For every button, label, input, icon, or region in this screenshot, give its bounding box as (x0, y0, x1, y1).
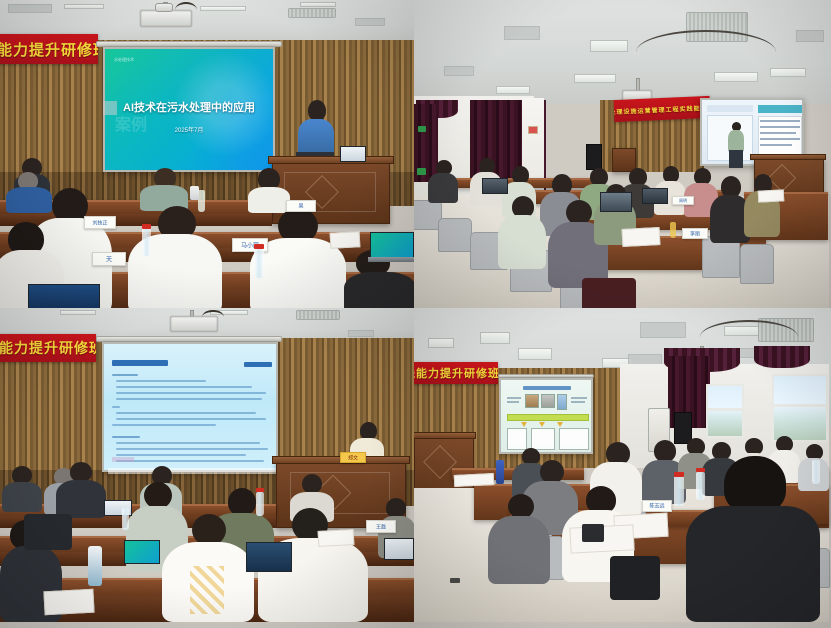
projector-cable (202, 310, 224, 324)
bottle-cap (254, 244, 264, 249)
water-bottle (254, 248, 264, 278)
attendee-body (344, 272, 414, 308)
wall-sign (528, 126, 538, 134)
slide-text-line (112, 374, 138, 376)
ceiling-light (64, 4, 104, 9)
slide-table-row (760, 138, 800, 140)
projector-cable (175, 2, 197, 18)
slide-text-line (116, 380, 206, 382)
podium-laptop (340, 146, 366, 164)
slide-caption (571, 401, 585, 403)
attendee-front (162, 514, 254, 622)
attendee-head (386, 498, 406, 518)
floor-object (450, 578, 460, 583)
attendee-laptop (482, 178, 508, 196)
slide-table-row (760, 144, 792, 146)
ceiling-light (574, 74, 616, 83)
ceiling-light (590, 40, 628, 52)
exit-sign (417, 168, 426, 175)
slide-toolbar (707, 105, 753, 112)
attendee-head (654, 440, 676, 462)
slide-stage-bar (507, 414, 589, 421)
namecard: 天 (92, 252, 126, 266)
attendee-laptop (642, 188, 668, 206)
tshirt-print (190, 566, 224, 614)
attendee (248, 168, 290, 212)
slide-title-bar (523, 386, 571, 390)
attendee-laptop (246, 542, 292, 574)
smartphone (582, 524, 604, 542)
attendee-head (302, 474, 322, 494)
instructor-namecard: 郑文 (340, 452, 366, 463)
bottle-cap (674, 472, 684, 477)
tumbler (88, 546, 102, 586)
slide-text-line (116, 398, 262, 400)
chair (438, 218, 472, 252)
laptop-screen (482, 178, 508, 194)
slide-badge (244, 362, 272, 367)
tumbler (496, 460, 504, 484)
namecard: 王磊 (366, 520, 396, 533)
ceiling-panel (796, 30, 824, 42)
namecard: 陈志远 (642, 500, 672, 512)
window (772, 374, 828, 442)
namecard-label: 周明 (673, 198, 693, 204)
laptop-screen (370, 232, 414, 258)
laptop-screen (340, 146, 366, 162)
paper-handout (318, 529, 355, 547)
ac-vent (288, 8, 336, 18)
attendee-laptop (124, 540, 160, 566)
slide-photo (557, 394, 567, 410)
presenter-head (308, 100, 326, 121)
attendee-laptop (600, 192, 632, 214)
laptop-screen (642, 188, 668, 204)
slide-text-line (116, 442, 260, 444)
attendee-body (2, 482, 42, 512)
laptop-screen (124, 540, 160, 564)
slide-sub-box (507, 428, 527, 450)
slide-right-header (758, 105, 802, 113)
attendee (140, 168, 188, 210)
attendee-body (498, 215, 546, 269)
exit-sign (418, 126, 426, 132)
slide-text-line (116, 448, 268, 450)
ceiling-light (518, 348, 552, 360)
slide-title: AI技术在污水处理中的应用 (105, 99, 273, 115)
podium-top (268, 156, 394, 164)
ac-vent (296, 310, 340, 320)
laptop-screen (246, 542, 292, 572)
namecard: 刘技正 (84, 216, 116, 229)
slide-sub-box (559, 428, 589, 450)
backpack (610, 556, 660, 600)
ceiling-light (480, 332, 510, 344)
speaker-box (586, 144, 602, 170)
attendee-head (228, 488, 256, 516)
slide-table-row (760, 126, 800, 128)
slide-photo (541, 394, 555, 408)
attendee (56, 462, 106, 518)
ceiling-light (496, 86, 530, 94)
slide-text-line (116, 460, 264, 462)
attendee (488, 494, 550, 584)
ceiling-panel (504, 26, 540, 40)
podium-top (750, 154, 826, 160)
namecard-label: 王磊 (367, 523, 395, 530)
slide-text-line (116, 392, 266, 394)
slide-blank-area (108, 468, 276, 474)
chair (740, 244, 774, 284)
namecard-label: 天 (93, 255, 125, 264)
paper-handout (43, 589, 94, 616)
namecard-label: 李丽 (683, 230, 707, 237)
presenter (728, 122, 744, 168)
red-banner: 践能力提升研修班 (0, 334, 96, 362)
attendee-head (144, 482, 172, 509)
backpack (582, 278, 636, 308)
laptop-screen (28, 284, 100, 308)
namecard-label: 陈志远 (643, 503, 671, 510)
laptop-screen (384, 538, 414, 560)
attendee (498, 196, 546, 268)
ceiling-light (200, 6, 246, 11)
attendee-laptop (384, 538, 414, 562)
ceiling-panel (355, 18, 385, 26)
ceiling-panel (444, 66, 474, 76)
ceiling-light (300, 2, 336, 7)
red-banner: 县镇污水处理设施运营管理工程实践能力提升研修班 (614, 96, 711, 122)
banner-text: 县镇污水处理设施运营管理工程实践能力提升研修班 (614, 101, 711, 117)
slide-caption (507, 401, 519, 403)
backpack (24, 514, 72, 550)
attendee-body (686, 506, 820, 622)
cup (190, 186, 199, 200)
slide-arrow-icon (539, 422, 545, 427)
slide-logo: 水处理技术 (114, 57, 134, 63)
attendee-laptop (28, 284, 100, 308)
water-bottle (142, 228, 151, 256)
water-bottle (670, 222, 676, 238)
attendee-laptop (370, 232, 414, 262)
water-bottle (122, 508, 129, 530)
banner-text: 践能力提升研修班 (414, 365, 498, 381)
attendee (428, 160, 458, 202)
water-bottle (674, 476, 684, 506)
projector-lens (155, 3, 173, 12)
photo-bottom-left[interactable]: 践能力提升研修班 (0, 308, 414, 628)
presenter-body (728, 130, 744, 152)
photo-top-left[interactable]: 践能力提升研修班 水处理技术 案例 AI技术在污水处理中的应用 2025年7月 … (0, 0, 414, 308)
paper-handout (330, 231, 361, 249)
slide-table-row (760, 132, 796, 134)
attendee-body (56, 480, 106, 518)
slide-text-line (116, 386, 252, 388)
photo-bottom-right[interactable]: 践能力提升研修班 (414, 308, 831, 628)
screen-glare (103, 101, 117, 115)
slide-table-row (760, 120, 800, 122)
window-mullion (772, 404, 828, 407)
namecard: 吴 (286, 200, 316, 212)
slide-arrow-icon (521, 422, 527, 427)
window (706, 384, 744, 438)
slide-heading-bar (112, 360, 168, 366)
water-bottle (198, 190, 205, 212)
ceiling-cable (636, 30, 776, 74)
laptop-screen (600, 192, 632, 212)
podium-top (414, 432, 476, 439)
attendee-foreground (686, 456, 820, 622)
attendee-front (250, 208, 346, 308)
water-bottle (256, 492, 264, 516)
bottle-cap (696, 468, 705, 472)
slide-text-line (116, 418, 266, 420)
ceiling-panel (8, 4, 52, 13)
red-banner: 践能力提升研修班 (0, 34, 98, 64)
slide-text-line (112, 424, 216, 426)
paper-handout (758, 189, 785, 202)
projection-screen: 水处理技术 案例 AI技术在污水处理中的应用 2025年7月 (103, 47, 275, 172)
slide-date: 2025年7月 (105, 125, 273, 134)
projection-screen (102, 342, 278, 472)
slide-photo (525, 394, 539, 408)
slide-text-line (112, 436, 140, 438)
presenter-trousers (729, 150, 743, 168)
attendee-body (428, 173, 458, 203)
namecard-label: 刘技正 (85, 219, 115, 226)
paper-handout (454, 473, 495, 487)
photo-top-right[interactable]: 县镇污水处理设施运营管理工程实践能力提升研修班 (414, 0, 831, 308)
banner-text: 践能力提升研修班 (0, 39, 98, 60)
slide-caption (507, 397, 521, 399)
bottle-cap (256, 488, 264, 492)
projection-screen (499, 378, 593, 454)
slide-text-line (116, 412, 256, 414)
namecard: 周明 (672, 196, 694, 205)
namecard: 李丽 (682, 228, 708, 239)
slide-sub-box (531, 428, 555, 450)
namecard-label: 吴 (287, 203, 315, 210)
bottle-cap (142, 224, 151, 229)
window-mullion (706, 408, 744, 411)
slide-highlight (112, 457, 134, 462)
ceiling-light (428, 338, 454, 348)
slide-caption (571, 397, 587, 399)
ceiling-light (60, 310, 96, 315)
slide-text-line (116, 454, 246, 456)
slide-arrow-icon (557, 422, 563, 427)
namecard-label: 郑文 (341, 454, 365, 461)
ceiling-panel (640, 322, 686, 338)
attendee (744, 174, 780, 236)
attendee-head (70, 462, 92, 482)
water-bottle (696, 472, 705, 500)
attendee-front (128, 206, 222, 308)
ceiling-light (770, 68, 806, 77)
curtain-valance (754, 346, 810, 368)
red-banner: 践能力提升研修班 (414, 362, 498, 384)
attendee (2, 466, 42, 512)
photo-collage: 践能力提升研修班 水处理技术 案例 AI技术在污水处理中的应用 2025年7月 … (0, 0, 831, 628)
ceiling-panel (348, 330, 374, 337)
laptop-base (368, 257, 414, 262)
water-bottle (812, 460, 820, 484)
attendee-body (488, 516, 550, 584)
slide-text-line (112, 406, 120, 408)
paper-handout (622, 227, 661, 247)
banner-text: 践能力提升研修班 (0, 338, 96, 358)
